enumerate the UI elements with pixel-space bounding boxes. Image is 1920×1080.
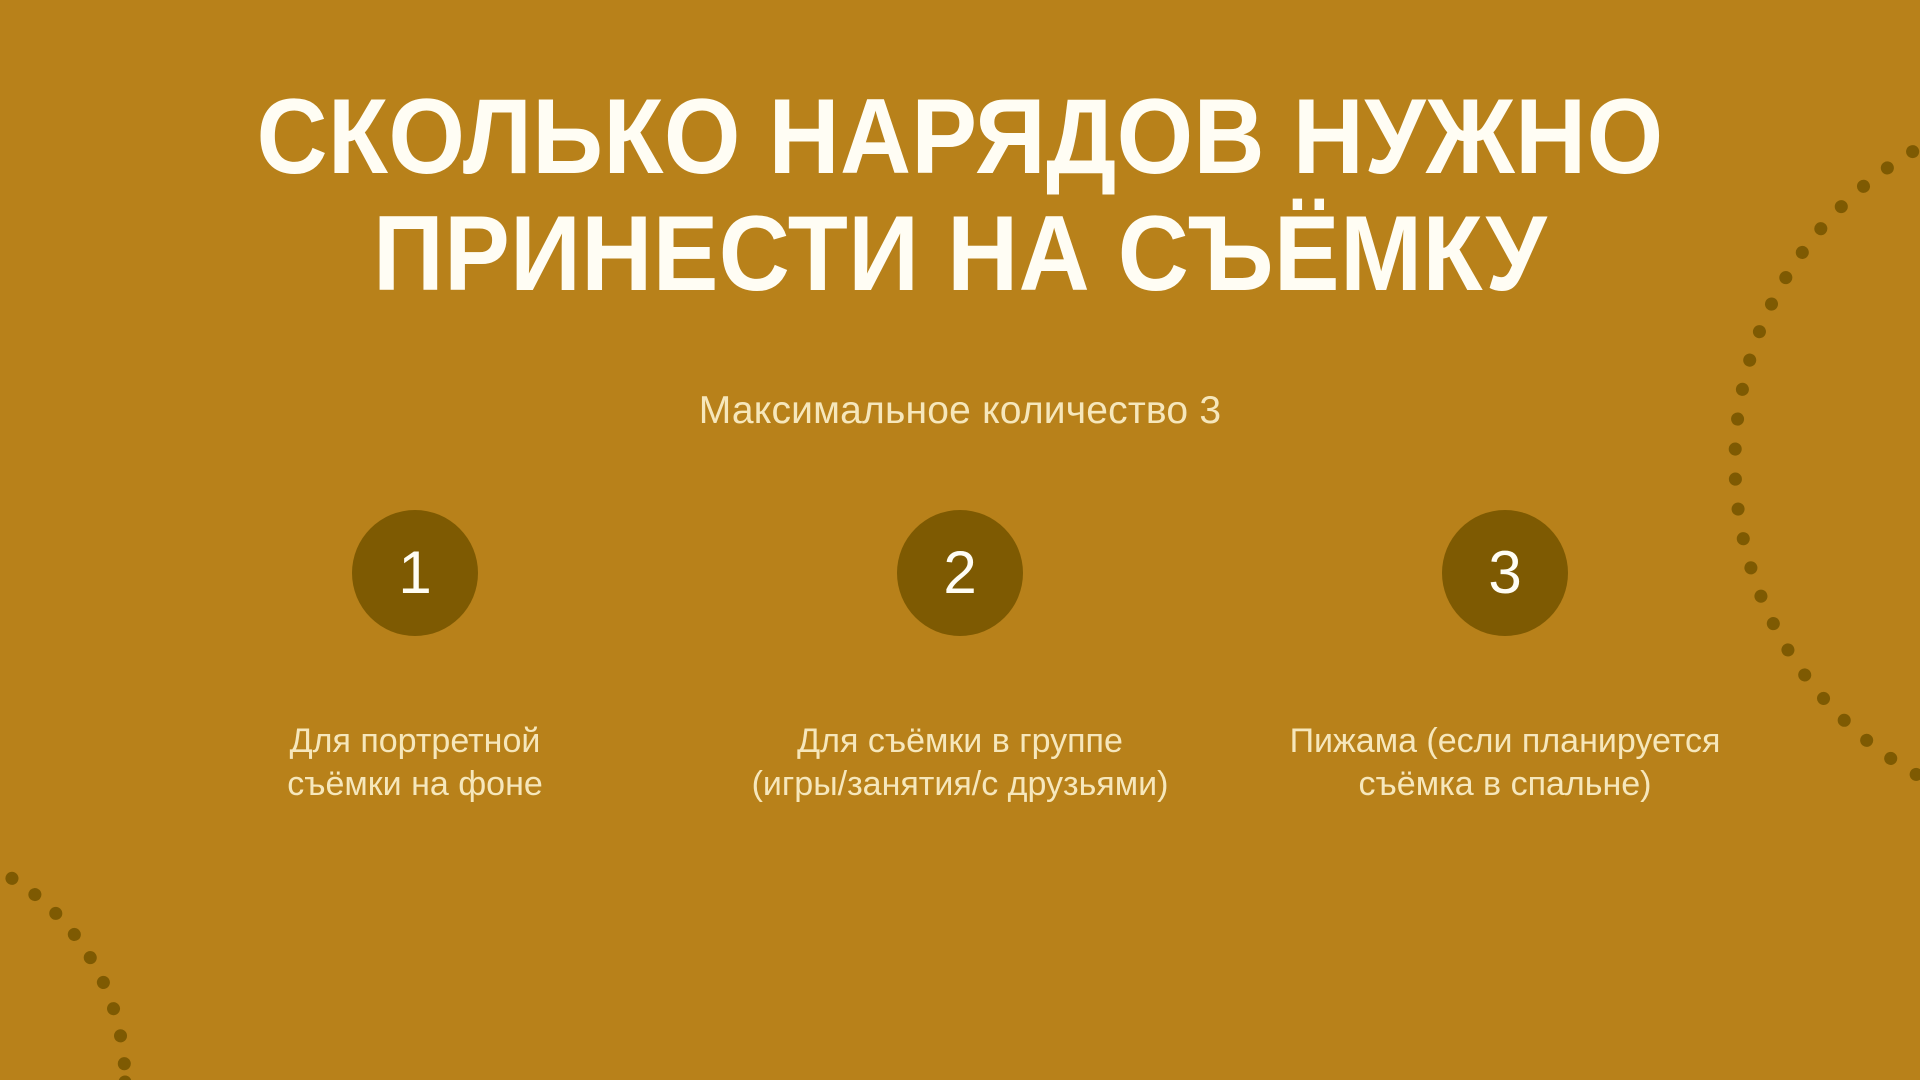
step-caption-3: Пижама (если планируется съёмка в спальн…: [1270, 720, 1740, 806]
step-number-badge-1: 1: [352, 510, 478, 636]
slide-canvas: СКОЛЬКО НАРЯДОВ НУЖНО ПРИНЕСТИ НА СЪЁМКУ…: [0, 0, 1920, 1080]
step-number-badge-3: 3: [1442, 510, 1568, 636]
subtitle: Максимальное количество 3: [0, 388, 1920, 435]
step-caption-2: Для съёмки в группе (игры/занятия/с друз…: [745, 720, 1175, 806]
step-item-2: 2 Для съёмки в группе (игры/занятия/с др…: [705, 510, 1215, 806]
page-title: СКОЛЬКО НАРЯДОВ НУЖНО ПРИНЕСТИ НА СЪЁМКУ: [77, 78, 1843, 311]
step-item-1: 1 Для портретной съёмки на фоне: [160, 510, 670, 806]
step-item-3: 3 Пижама (если планируется съёмка в спал…: [1250, 510, 1760, 806]
title-block: СКОЛЬКО НАРЯДОВ НУЖНО ПРИНЕСТИ НА СЪЁМКУ: [0, 78, 1920, 311]
steps-row: 1 Для портретной съёмки на фоне 2 Для съ…: [160, 510, 1760, 806]
step-caption-1: Для портретной съёмки на фоне: [240, 720, 590, 806]
dotted-arc-bottom-left-icon: [0, 842, 125, 1080]
step-number-badge-2: 2: [897, 510, 1023, 636]
